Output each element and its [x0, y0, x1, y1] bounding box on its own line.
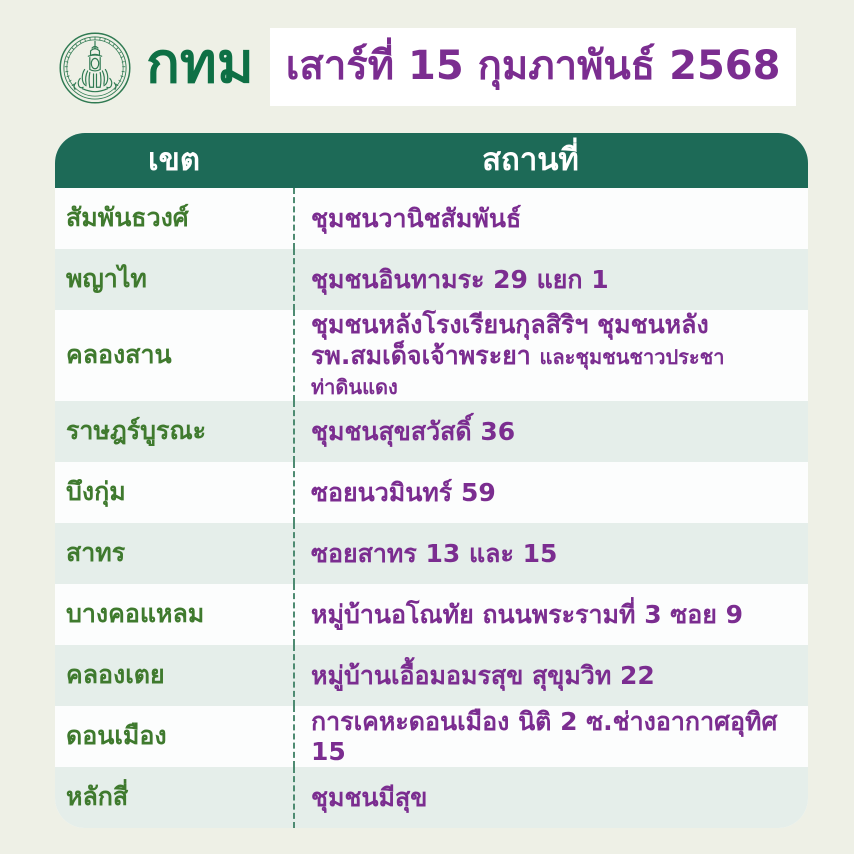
cell-place: ชุมชนหลังโรงเรียนกุลสิริฯ ชุมชนหลัง รพ.ส… — [293, 310, 808, 401]
column-divider — [293, 310, 295, 401]
infographic-page: กทม เสาร์ที่ 15 กุมภาพันธ์ 2568 เขต สถาน… — [0, 0, 854, 854]
date-label: เสาร์ที่ 15 กุมภาพันธ์ 2568 — [270, 28, 797, 106]
cell-district: สาทร — [55, 539, 293, 568]
cell-place: ซอยสาทร 13 และ 15 — [293, 539, 808, 569]
cell-place: ชุมชนวานิชสัมพันธ์ — [293, 204, 808, 234]
cell-place: ชุมชนสุขสวัสดิ์ 36 — [293, 417, 808, 447]
cell-district: บึงกุ่ม — [55, 478, 293, 507]
table-header-row: เขต สถานที่ — [55, 133, 808, 188]
cell-district: ราษฎร์บูรณะ — [55, 417, 293, 446]
table-row: สัมพันธวงศ์ ชุมชนวานิชสัมพันธ์ — [55, 188, 808, 249]
cell-place: ชุมชนมีสุข — [293, 783, 808, 813]
cell-place: หมู่บ้านอโณทัย ถนนพระรามที่ 3 ซอย 9 — [293, 600, 808, 630]
column-header-district: เขต — [55, 145, 293, 176]
table-row: บึงกุ่ม ซอยนวมินทร์ 59 — [55, 462, 808, 523]
table-row: คลองสาน ชุมชนหลังโรงเรียนกุลสิริฯ ชุมชนห… — [55, 310, 808, 401]
table-row: สาทร ซอยสาทร 13 และ 15 — [55, 523, 808, 584]
column-divider — [293, 645, 295, 706]
table-row: คลองเตย หมู่บ้านเอื้อมอมรสุข สุขุมวิท 22 — [55, 645, 808, 706]
table-row: หลักสี่ ชุมชนมีสุข — [55, 767, 808, 828]
table-row: บางคอแหลม หมู่บ้านอโณทัย ถนนพระรามที่ 3 … — [55, 584, 808, 645]
table-row: ราษฎร์บูรณะ ชุมชนสุขสวัสดิ์ 36 — [55, 401, 808, 462]
place-line-1: ชุมชนหลังโรงเรียนกุลสิริฯ ชุมชนหลัง — [311, 310, 709, 339]
table-row: ดอนเมือง การเคหะดอนเมือง นิติ 2 ซ.ช่างอา… — [55, 706, 808, 767]
column-divider — [293, 462, 295, 523]
cell-district: คลองเตย — [55, 661, 293, 690]
column-divider — [293, 401, 295, 462]
cell-district: หลักสี่ — [55, 783, 293, 812]
cell-district: บางคอแหลม — [55, 600, 293, 629]
place-line-2: รพ.สมเด็จเจ้าพระยา และชุมชนชาวประชาท่าดิ… — [311, 341, 802, 401]
column-divider — [293, 767, 295, 828]
brand-title: กทม — [146, 36, 254, 98]
table-row: พญาไท ชุมชนอินทามระ 29 แยก 1 — [55, 249, 808, 310]
column-divider — [293, 249, 295, 310]
column-divider — [293, 523, 295, 584]
column-divider — [293, 706, 295, 767]
cell-place: ซอยนวมินทร์ 59 — [293, 478, 808, 508]
cell-place: การเคหะดอนเมือง นิติ 2 ซ.ช่างอากาศอุทิศ … — [293, 707, 808, 767]
cell-district: พญาไท — [55, 265, 293, 294]
district-location-table: เขต สถานที่ สัมพันธวงศ์ ชุมชนวานิชสัมพัน… — [55, 133, 808, 828]
cell-place: หมู่บ้านเอื้อมอมรสุข สุขุมวิท 22 — [293, 661, 808, 691]
column-divider — [293, 584, 295, 645]
cell-place: ชุมชนอินทามระ 29 แยก 1 — [293, 265, 808, 295]
column-header-place: สถานที่ — [293, 145, 808, 176]
cell-district: สัมพันธวงศ์ — [55, 204, 293, 233]
place-line-2-main: รพ.สมเด็จเจ้าพระยา — [311, 341, 540, 370]
cell-district: คลองสาน — [55, 341, 293, 370]
bangkok-seal-icon — [58, 31, 132, 105]
cell-district: ดอนเมือง — [55, 722, 293, 751]
page-header: กทม เสาร์ที่ 15 กุมภาพันธ์ 2568 — [0, 0, 854, 133]
column-divider — [293, 188, 295, 249]
